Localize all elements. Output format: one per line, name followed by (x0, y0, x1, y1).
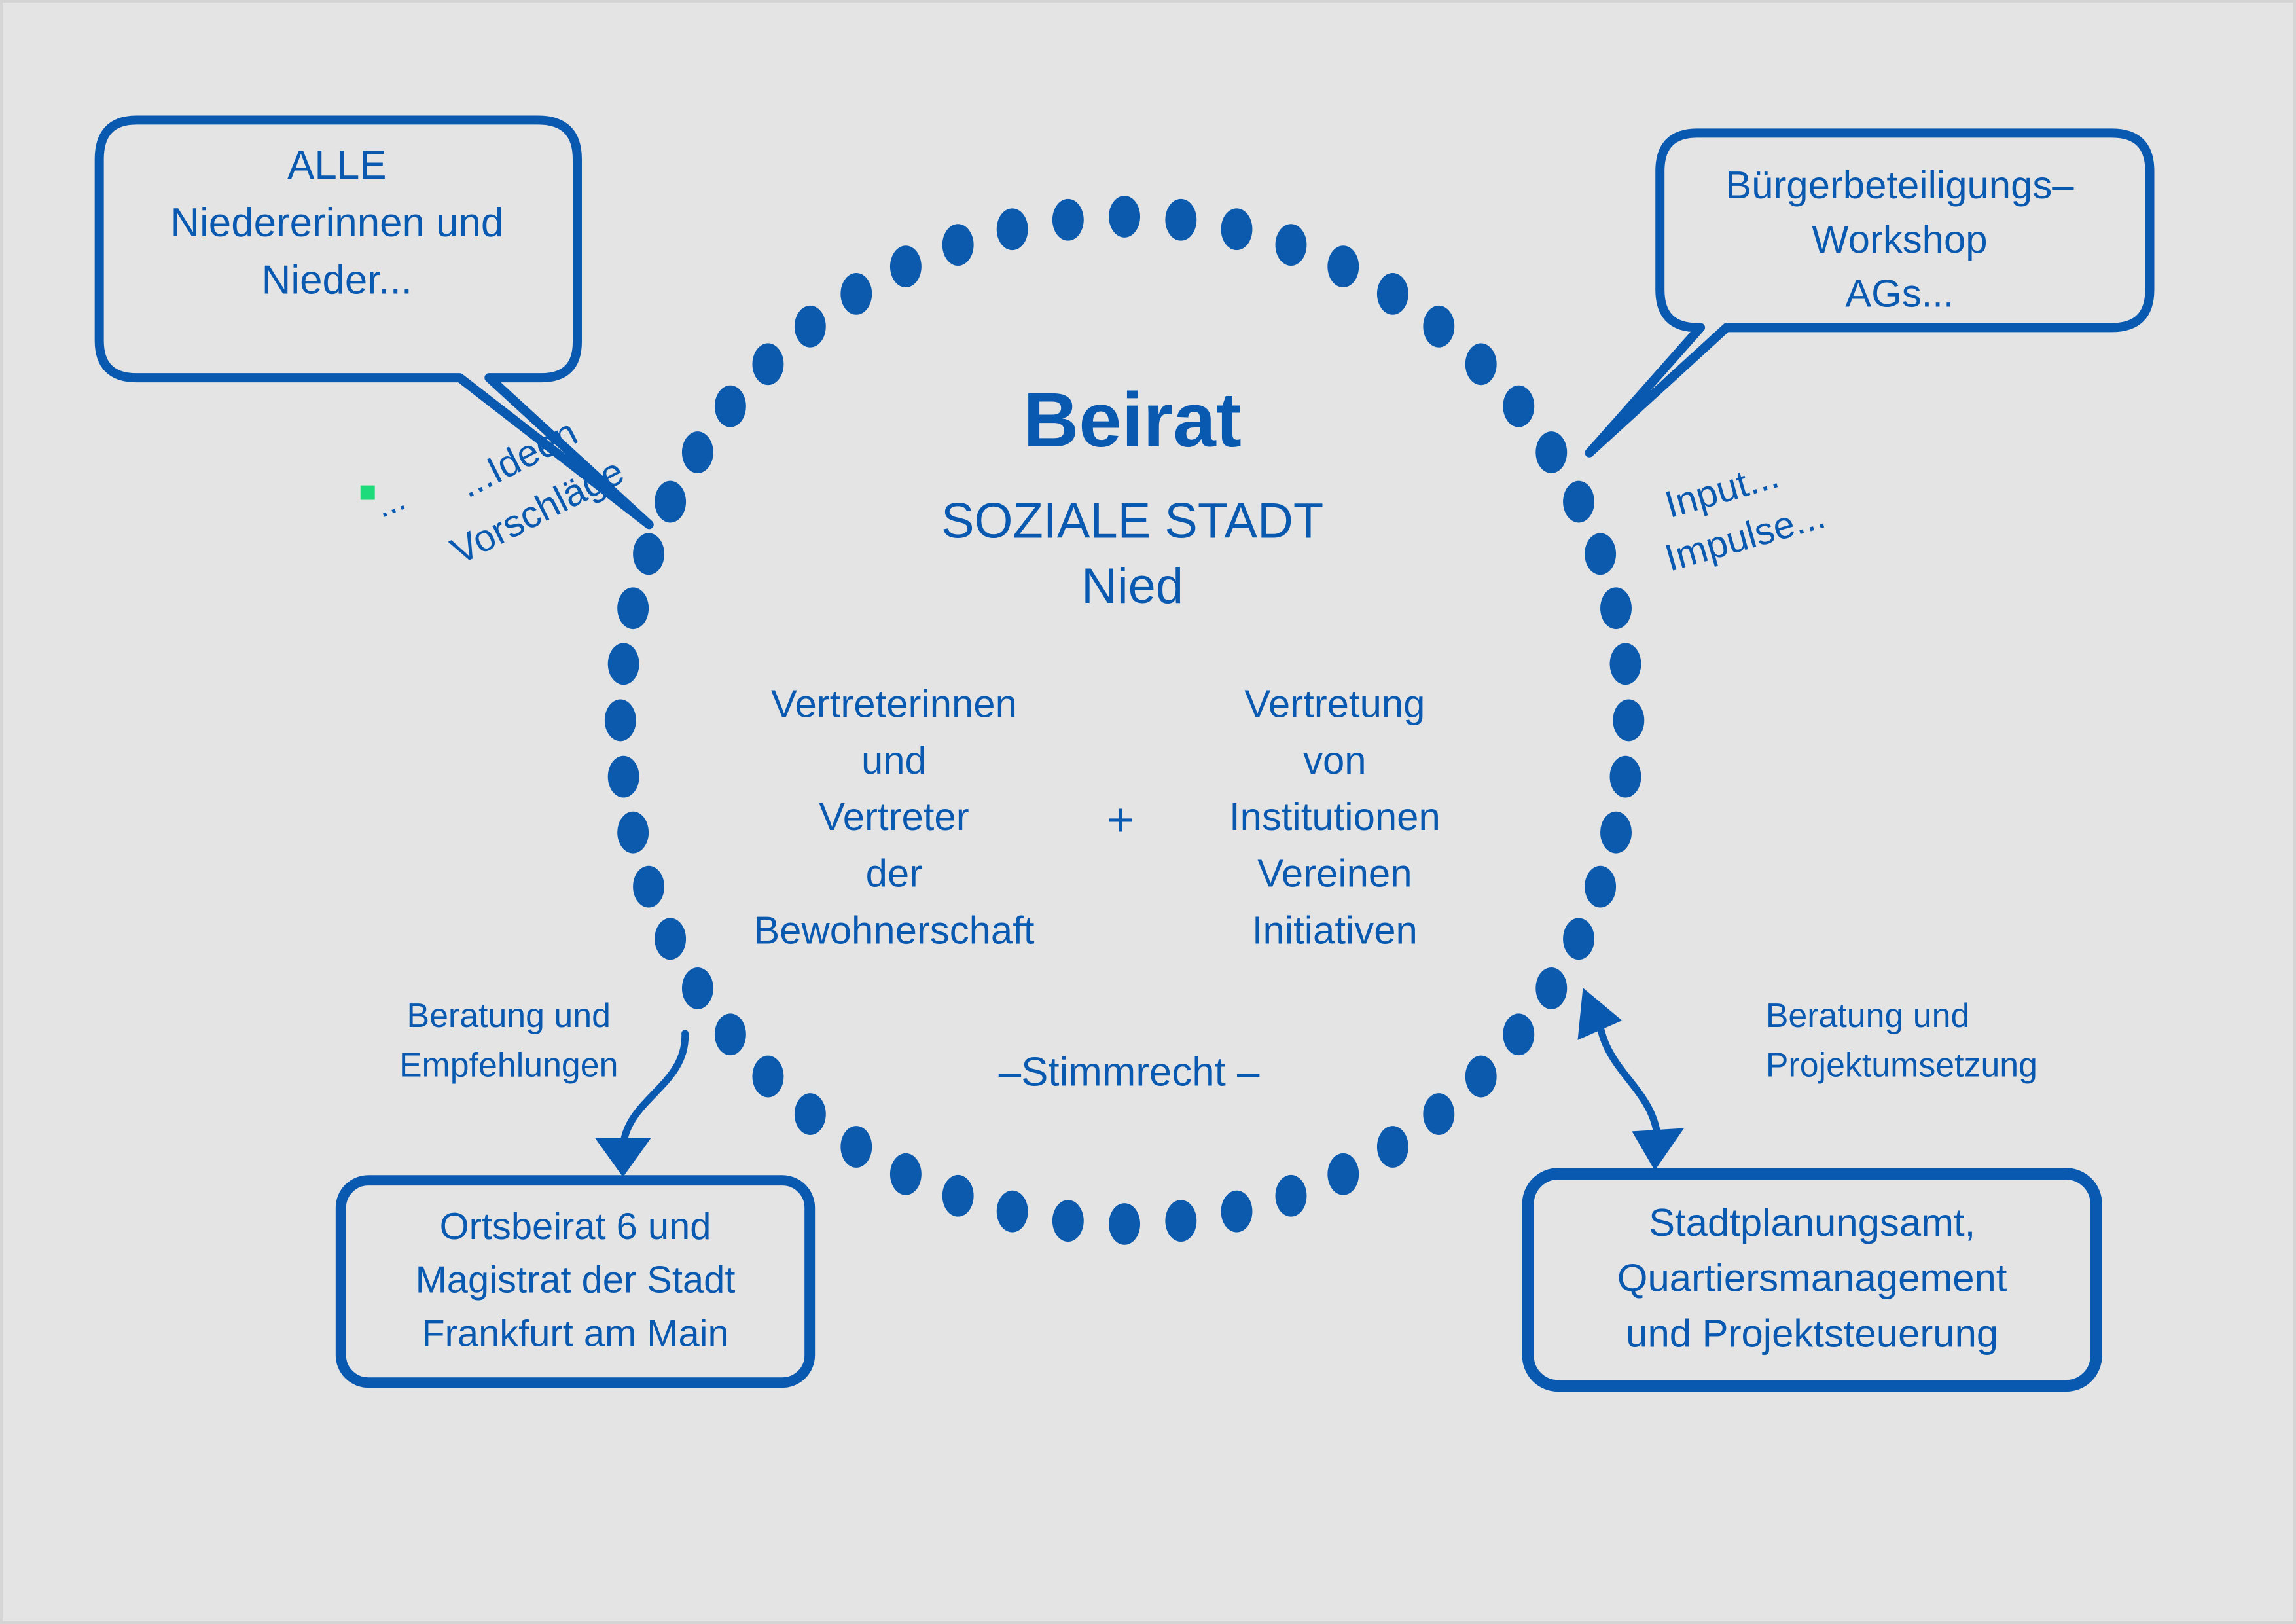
ring-dot (1585, 533, 1616, 575)
right-column-line-2: von (1303, 738, 1367, 782)
bottom-left-annotation-line-1: Beratung und (406, 996, 610, 1034)
ring-dot (1221, 208, 1253, 250)
stadtplanungsamt-line-1: Stadtplanungsamt, (1649, 1200, 1975, 1244)
stadtplanungsamt-box[interactable]: Stadtplanungsamt, Quartiersmanagement un… (1528, 1174, 2096, 1386)
ring-dot (1600, 587, 1632, 629)
beirat-diagram: ALLE Niedererinnen und Nieder... Bürgerb… (3, 3, 2293, 1621)
ring-dot (1276, 1175, 1307, 1217)
ring-dot (1563, 918, 1594, 960)
ring-dot (890, 245, 922, 287)
ring-dot (1600, 812, 1632, 854)
ring-dot (608, 756, 639, 798)
ring-dot (655, 918, 686, 960)
ring-dot (682, 967, 713, 1009)
bubble-line-1: Bürgerbeteiligungs– (1725, 163, 2074, 207)
ring-dot (1327, 1153, 1359, 1195)
ring-dot (752, 1056, 783, 1098)
ring-dot (1052, 199, 1084, 241)
ring-dot (795, 1093, 826, 1135)
right-column-line-1: Vertretung (1244, 681, 1425, 725)
ring-dot (1377, 273, 1408, 315)
ortsbeirat-line-1: Ortsbeirat 6 und (440, 1206, 711, 1248)
page-title: Beirat (1023, 376, 1242, 463)
bottom-left-annotation-line-2: Empfehlungen (399, 1046, 619, 1084)
ring-dot (608, 643, 639, 685)
bottom-left-arrow-head (595, 1138, 651, 1177)
ring-dot (1165, 1200, 1196, 1242)
stimmrecht-label: –Stimmrecht – (999, 1050, 1260, 1095)
ring-dot (605, 700, 636, 742)
ring-dot (715, 1013, 746, 1055)
ring-dot (633, 866, 664, 908)
ring-dot (1585, 866, 1616, 908)
bottom-right-annotation: Beratung und Projektumsetzung (1577, 988, 2037, 1170)
ring-dot (1109, 196, 1140, 238)
bubble-line-1: ALLE (287, 143, 386, 188)
ring-dot (1465, 343, 1497, 385)
ring-dot (1563, 481, 1594, 523)
bubble-line-3: Nieder... (262, 258, 412, 303)
ortsbeirat-line-3: Frankfurt am Main (422, 1312, 728, 1354)
plus-sign: + (1107, 794, 1134, 846)
ring-dot (795, 306, 826, 348)
ring-dot (840, 1126, 872, 1168)
ring-dot (840, 273, 872, 315)
left-flow-dots: ... (370, 479, 410, 525)
ring-dot (655, 481, 686, 523)
ring-dot (1221, 1191, 1253, 1233)
ring-dot (715, 386, 746, 427)
ring-dot (1423, 1093, 1454, 1135)
ring-dot (617, 812, 649, 854)
bottom-right-annotation-line-1: Beratung und (1766, 996, 1969, 1034)
stadtplanungsamt-line-3: und Projektsteuerung (1626, 1311, 1998, 1355)
ring-dot (1377, 1126, 1408, 1168)
ring-dot (1535, 967, 1567, 1009)
center-subtitle-line2: Nied (1081, 558, 1183, 614)
bottom-left-arrow-shaft (623, 1034, 685, 1147)
ring-dot (1613, 700, 1644, 742)
ring-dot (617, 587, 649, 629)
center-content: Beirat SOZIALE STADT Nied Vertreterinnen… (753, 376, 1440, 1095)
ring-dot (682, 431, 713, 473)
center-subtitle-line1: SOZIALE STADT (941, 493, 1323, 549)
bubble-line-2: Niedererinnen und (170, 200, 503, 245)
ring-dot (752, 343, 783, 385)
left-flow-annotation: ... Vorschläge ...Ideen (361, 412, 631, 573)
left-column-line-1: Vertreterinnen (771, 681, 1017, 725)
ring-dot (1503, 1013, 1534, 1055)
bubble-line-2: Workshop (1812, 217, 1987, 261)
ring-dot (1535, 431, 1567, 473)
bottom-right-arrow-head-down (1632, 1128, 1684, 1170)
ring-dot (1327, 245, 1359, 287)
right-column-line-4: Vereinen (1257, 852, 1412, 895)
ortsbeirat-line-2: Magistrat der Stadt (416, 1259, 736, 1301)
bottom-left-annotation: Beratung und Empfehlungen (399, 996, 685, 1177)
ring-dot (1276, 224, 1307, 266)
ring-dot (1610, 643, 1641, 685)
bubble-line-3: AGs... (1845, 272, 1954, 316)
left-column-line-5: Bewohnerschaft (753, 908, 1035, 952)
ring-dot (1165, 199, 1196, 241)
ring-dot (1423, 306, 1454, 348)
stadtplanungsamt-line-2: Quartiersmanagement (1617, 1256, 2007, 1300)
ring-dot (942, 1175, 974, 1217)
bottom-right-arrow-shaft (1599, 1020, 1658, 1141)
bottom-right-annotation-line-2: Projektumsetzung (1766, 1046, 2037, 1084)
ring-dot (890, 1153, 922, 1195)
ring-dot (997, 1191, 1028, 1233)
left-column-line-3: Vertreter (819, 795, 969, 839)
ring-dot (1465, 1056, 1497, 1098)
buergerbeteiligung-bubble[interactable]: Bürgerbeteiligungs– Workshop AGs... (1589, 133, 2149, 452)
ring-dot (997, 208, 1028, 250)
alle-niederinnen-bubble[interactable]: ALLE Niedererinnen und Nieder... (99, 120, 649, 524)
ring-dot (1052, 1200, 1084, 1242)
ring-dot (1610, 756, 1641, 798)
ring-dot (1503, 386, 1534, 427)
right-flow-annotation: Input... Impulse... (1660, 454, 1830, 580)
left-column-line-4: der (866, 852, 923, 895)
ring-dot (942, 224, 974, 266)
ortsbeirat-box[interactable]: Ortsbeirat 6 und Magistrat der Stadt Fra… (341, 1180, 810, 1382)
left-column-line-2: und (861, 738, 927, 782)
ring-dot (633, 533, 664, 575)
diagram-canvas: ALLE Niedererinnen und Nieder... Bürgerb… (0, 0, 2296, 1624)
right-column-line-5: Initiativen (1252, 908, 1418, 952)
ring-dot (1109, 1203, 1140, 1245)
right-column-line-3: Institutionen (1229, 795, 1441, 839)
